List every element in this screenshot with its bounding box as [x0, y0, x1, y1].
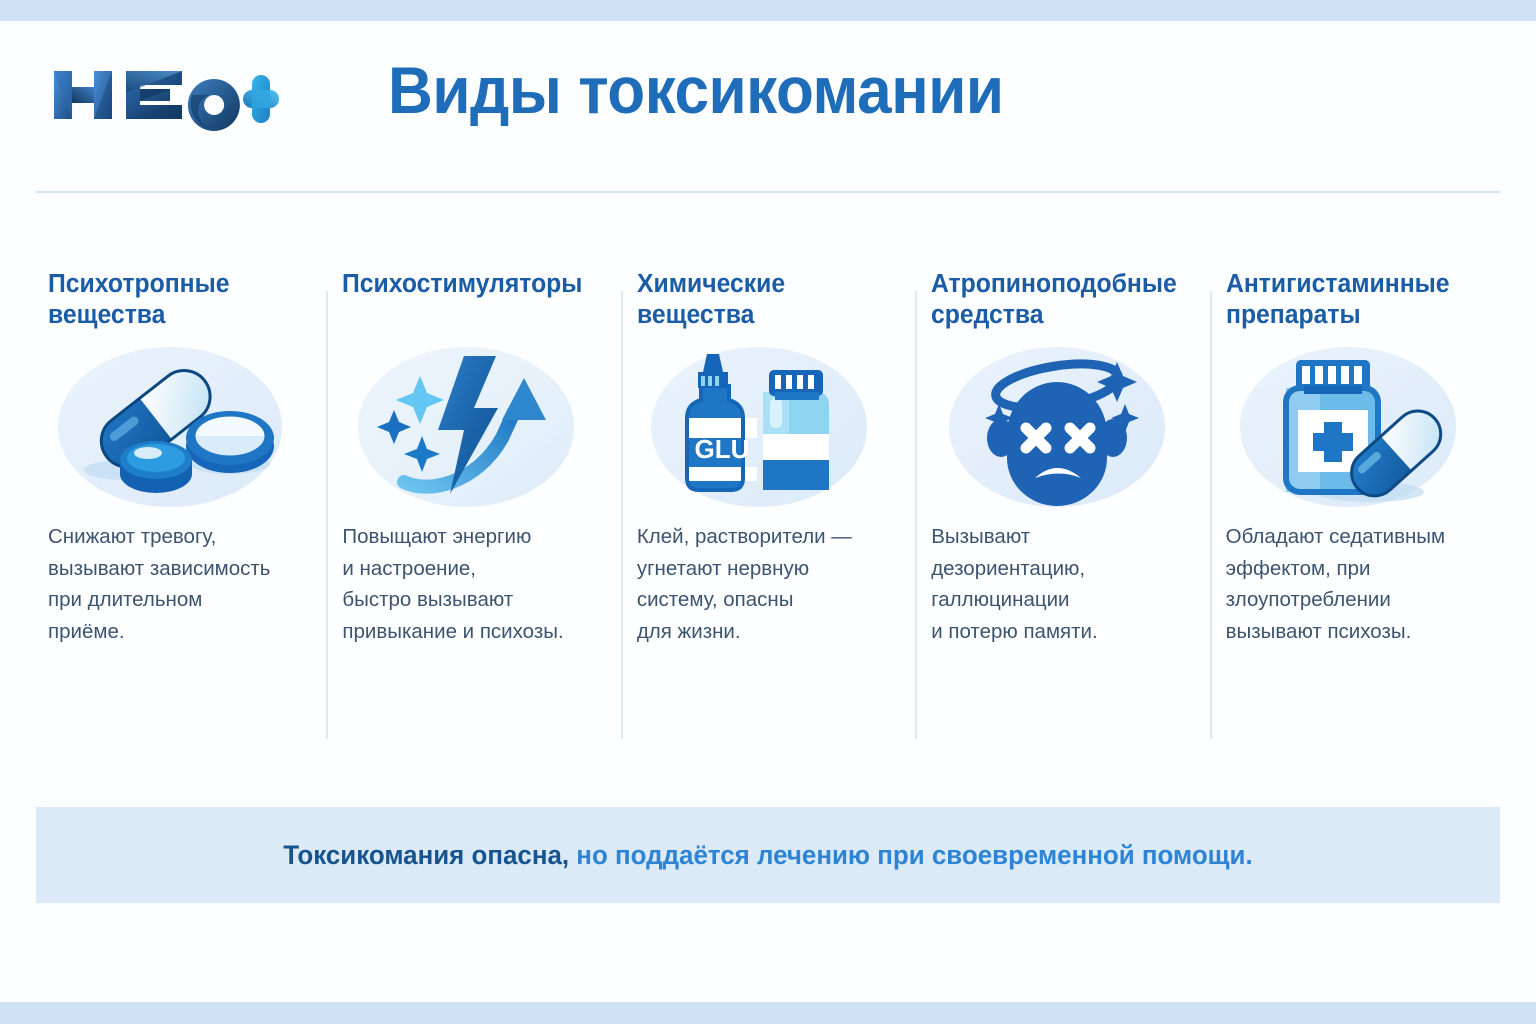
category-body: Снижают тревогу, вызывают зависимость пр… [48, 521, 304, 647]
category-title: Психостимуляторы [342, 269, 591, 335]
category-body: Вызывают дезориентацию, галлюцинации и п… [931, 521, 1187, 647]
category-card-chemicals: Химические вещества [625, 269, 919, 749]
footer-banner: Токсикомания опасна, но поддаётся лечени… [36, 807, 1500, 903]
footer-banner-text: Токсикомания опасна, но поддаётся лечени… [283, 840, 1252, 871]
categories-row: Психотропные вещества [36, 269, 1508, 749]
pill-bottle-capsule-icon [1226, 339, 1482, 515]
content-canvas: Виды токсикомании Психотропные вещества [0, 21, 1536, 1002]
category-body: Клей, растворители — угнетают нервную си… [637, 521, 893, 647]
category-title: Атропиноподобные средства [931, 269, 1180, 335]
category-body: Повыщают энергию и настроение, быстро вы… [342, 521, 598, 647]
header-divider [36, 191, 1500, 193]
bottom-band [0, 1002, 1536, 1024]
category-title: Психотропные вещества [48, 269, 297, 335]
category-title: Химические вещества [637, 269, 886, 335]
top-band [0, 0, 1536, 21]
infographic-page: Виды токсикомании Психотропные вещества [0, 0, 1536, 1024]
page-title: Виды токсикомании [388, 57, 1004, 123]
category-title: Антигистаминные препараты [1226, 269, 1475, 335]
category-card-atropine: Атропиноподобные средства [919, 269, 1213, 749]
pills-capsule-tablets-icon [48, 339, 304, 515]
footer-banner-rest: но поддаётся лечению при своевременной п… [569, 840, 1253, 870]
category-card-psychotropic: Психотропные вещества [36, 269, 330, 749]
header: Виды токсикомании [0, 21, 1536, 189]
glue-label: GLU [694, 434, 749, 464]
neo-plus-logo [46, 59, 286, 131]
lightning-bolt-arrow-sparkles-icon [342, 339, 598, 515]
category-body: Обладают седативным эффектом, при злоупо… [1226, 521, 1482, 647]
category-card-stimulants: Психостимуляторы [330, 269, 624, 749]
footer-banner-strong: Токсикомания опасна, [283, 840, 569, 870]
glue-solvent-bottles-icon: GLU [637, 339, 893, 515]
category-card-antihistamine: Антигистаминные препараты [1214, 269, 1508, 749]
dizzy-head-icon [931, 339, 1187, 515]
